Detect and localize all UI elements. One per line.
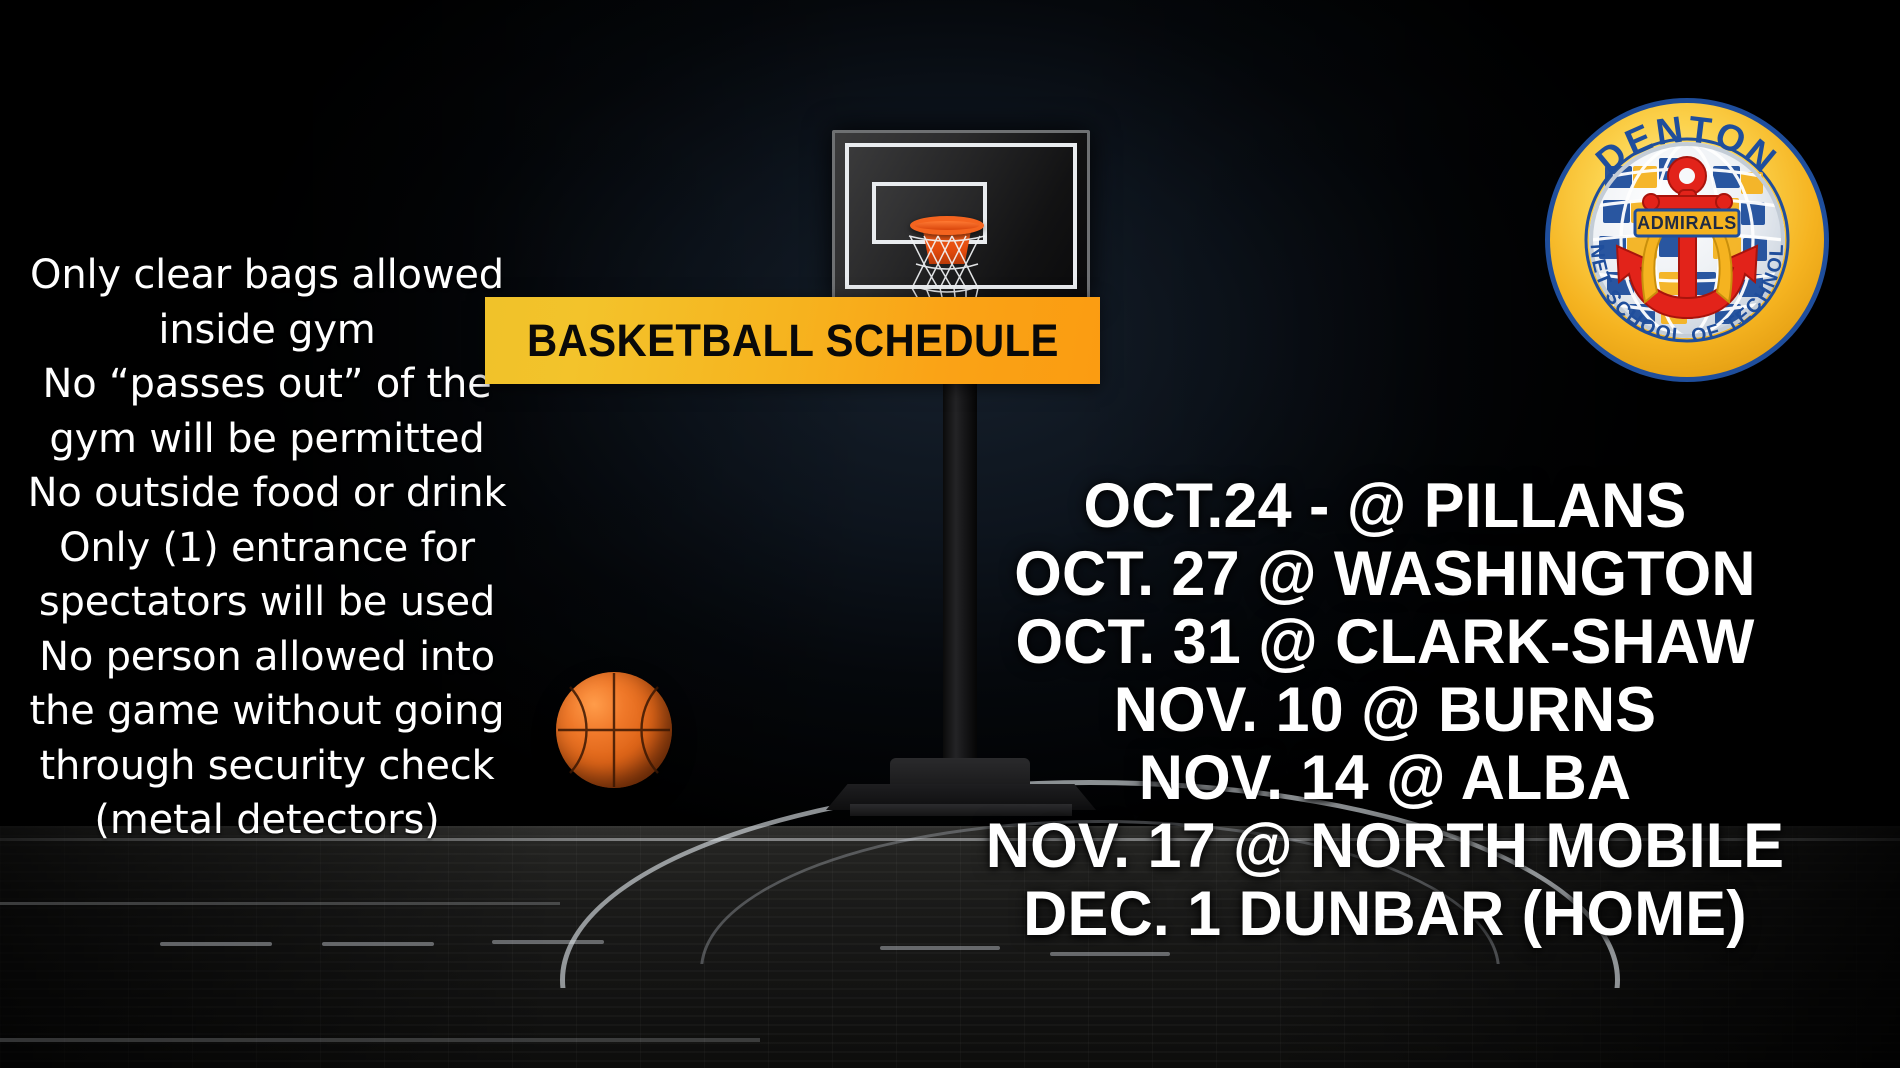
schedule-game: OCT. 31 @ CLARK-SHAW [895,608,1875,676]
rules-line: through security check [14,739,520,794]
schedule-game: OCT. 27 @ WASHINGTON [895,540,1875,608]
rules-line: No person allowed into [14,630,520,685]
floor-shadow-left [0,826,560,1068]
schedule-game: NOV. 14 @ ALBA [895,744,1875,812]
rules-line: Only clear bags allowed [14,248,520,303]
court-dash [160,942,272,946]
court-line-secondary [0,902,560,905]
schedule-game: NOV. 10 @ BURNS [895,676,1875,744]
court-dash [322,942,434,946]
poster-canvas: Only clear bags allowed inside gym No “p… [0,0,1900,1068]
schedule-game: DEC. 1 DUNBAR (HOME) [895,880,1875,948]
basketball [556,672,672,788]
logo-mascot-text: ADMIRALS [1637,213,1737,233]
rules-line: (metal detectors) [14,793,520,848]
rules-text-block: Only clear bags allowed inside gym No “p… [14,248,520,848]
rules-line: inside gym [14,303,520,358]
rules-line: Only (1) entrance for [14,521,520,576]
denton-school-logo: ADMIRALS DENTON MAGNET SCHOOL OF TECHNOL… [1543,96,1831,384]
rules-line: the game without going [14,684,520,739]
schedule-game: OCT.24 - @ PILLANS [895,472,1875,540]
rules-line: No outside food or drink [14,466,520,521]
schedule-game: NOV. 17 @ NORTH MOBILE [895,812,1875,880]
schedule-banner: BASKETBALL SCHEDULE [485,297,1100,384]
court-line-foreground [0,1038,760,1042]
rules-line: spectators will be used [14,575,520,630]
banner-title: BASKETBALL SCHEDULE [527,315,1059,367]
rules-line: No “passes out” of the [14,357,520,412]
rules-line: gym will be permitted [14,412,520,467]
schedule-list: OCT.24 - @ PILLANS OCT. 27 @ WASHINGTON … [880,472,1890,948]
